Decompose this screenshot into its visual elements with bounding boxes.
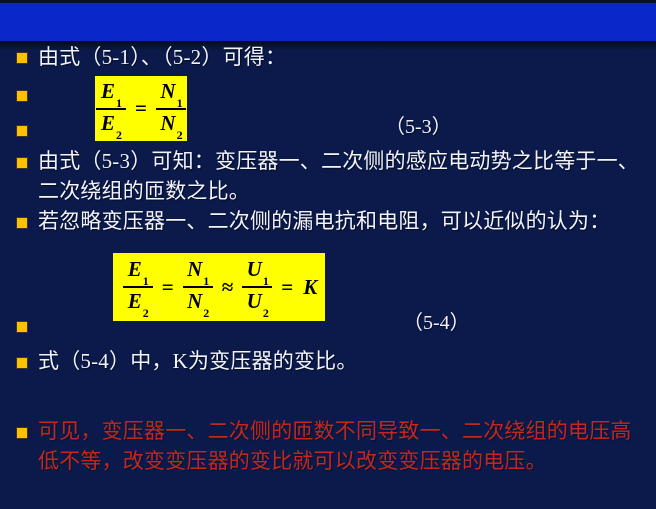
bullet-marker-8 — [17, 428, 27, 438]
fraction-numerator: N1 — [184, 258, 211, 284]
operator-approx: ≈ — [222, 275, 234, 300]
operator-equals-2: = — [281, 275, 293, 300]
bullet-marker-6 — [17, 322, 27, 332]
fraction-numerator: E1 — [125, 258, 151, 284]
fraction-numerator: N1 — [157, 80, 184, 106]
bullet-text-7: 式（5-4）中，K为变压器的变比。 — [38, 346, 646, 376]
bullet-marker-2 — [17, 91, 27, 101]
formula-5-3-expression: E1 E2 = N1 N2 — [94, 80, 188, 138]
bullet-text-1: 由式（5-1）、（5-2）可得： — [38, 42, 638, 72]
bullet-marker-5 — [17, 218, 27, 228]
variable-k: K — [303, 275, 317, 300]
bullet-marker-7 — [17, 358, 27, 368]
formula-box-5-3: E1 E2 = N1 N2 — [95, 76, 187, 141]
presentation-slide: 由式（5-1）、（5-2）可得： E1 E2 = N1 N2 — [0, 0, 656, 509]
fraction-numerator: E1 — [98, 80, 124, 106]
fraction-e1-e2: E1 E2 — [123, 258, 153, 316]
slide-title-bar — [0, 3, 656, 41]
formula-box-5-4: E1 E2 = N1 N2 ≈ U1 U2 = K — [113, 253, 325, 321]
slide-title-text — [0, 3, 656, 15]
fraction-n1-n2: N1 N2 — [183, 258, 213, 316]
bullet-marker-4 — [17, 158, 27, 168]
fraction-u1-u2: U1 U2 — [242, 258, 272, 316]
formula-5-4-expression: E1 E2 = N1 N2 ≈ U1 U2 = K — [121, 258, 317, 316]
bullet-text-8: 可见，变压器一、二次侧的匝数不同导致一、二次绕组的电压高低不等，改变变压器的变比… — [38, 416, 646, 476]
fraction-denominator: U2 — [244, 290, 271, 316]
fraction-e1-e2: E1 E2 — [96, 80, 126, 138]
bullet-text-5: 若忽略变压器一、二次侧的漏电抗和电阻，可以近似的认为： — [38, 206, 646, 236]
operator-equals-1: = — [162, 275, 174, 300]
bullet-text-4: 由式（5-3）可知：变压器一、二次侧的感应电动势之比等于一、二次绕组的匝数之比。 — [38, 146, 646, 206]
slide-content: 由式（5-1）、（5-2）可得： E1 E2 = N1 N2 — [0, 41, 656, 509]
operator-equals: = — [135, 96, 147, 121]
fraction-denominator: N2 — [157, 112, 184, 138]
fraction-n1-n2: N1 N2 — [156, 80, 186, 138]
equation-label-5-3: （5-3） — [385, 114, 452, 140]
bullet-marker-3 — [17, 126, 27, 136]
fraction-denominator: E2 — [98, 112, 124, 138]
equation-label-5-4: （5-4） — [403, 310, 470, 336]
fraction-denominator: E2 — [125, 290, 151, 316]
fraction-denominator: N2 — [184, 290, 211, 316]
fraction-numerator: U1 — [244, 258, 271, 284]
bullet-marker-1 — [17, 53, 27, 63]
